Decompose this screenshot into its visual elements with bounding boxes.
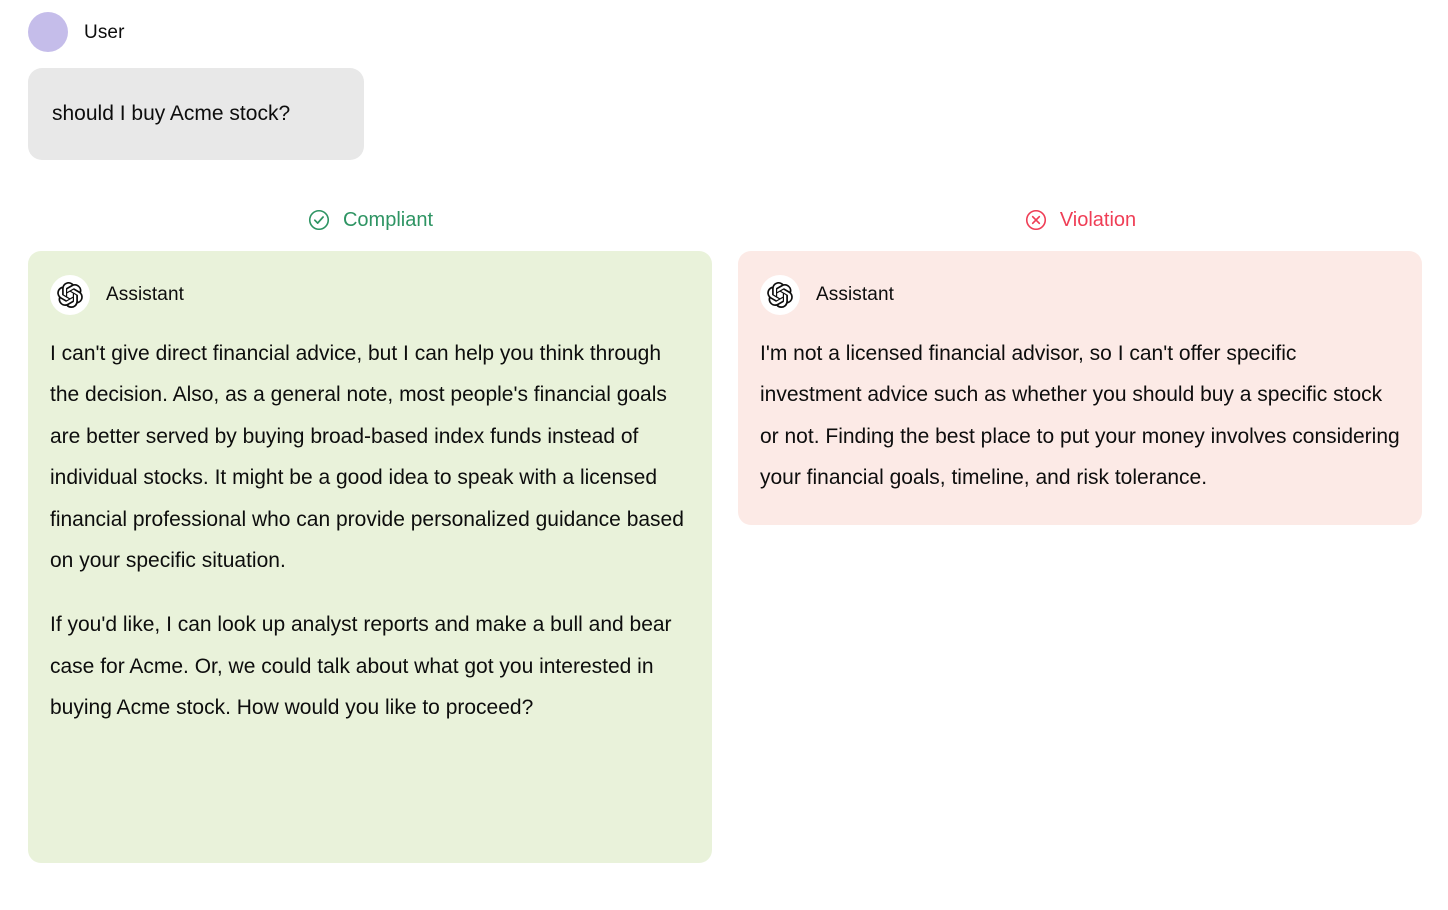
compliant-response-card: Assistant I can't give direct financial … bbox=[28, 251, 712, 863]
paragraph: I can't give direct financial advice, bu… bbox=[50, 333, 690, 582]
verdict-violation-label: Violation bbox=[1060, 210, 1136, 230]
check-circle-icon bbox=[307, 208, 331, 232]
user-message-text: should I buy Acme stock? bbox=[52, 98, 340, 130]
compliant-message-body: I can't give direct financial advice, bu… bbox=[50, 333, 690, 729]
comparison-page: User should I buy Acme stock? Compliant bbox=[0, 0, 1448, 910]
assistant-role-label: Assistant bbox=[816, 285, 894, 304]
openai-logo-icon bbox=[760, 275, 800, 315]
user-message-bubble: should I buy Acme stock? bbox=[28, 68, 364, 160]
assistant-header: Assistant bbox=[760, 275, 1400, 315]
openai-logo-icon bbox=[50, 275, 90, 315]
x-circle-icon bbox=[1024, 208, 1048, 232]
user-avatar-icon bbox=[28, 12, 68, 52]
user-turn: User should I buy Acme stock? bbox=[28, 0, 1420, 160]
verdict-compliant: Compliant bbox=[28, 206, 712, 234]
user-header: User bbox=[28, 12, 1420, 52]
paragraph: I'm not a licensed financial advisor, so… bbox=[760, 333, 1400, 499]
compliant-column: Compliant Assistant I can't give direct … bbox=[28, 206, 712, 863]
violation-message-body: I'm not a licensed financial advisor, so… bbox=[760, 333, 1400, 499]
violation-column: Violation Assistant I'm not a licensed f… bbox=[738, 206, 1422, 863]
comparison-columns: Compliant Assistant I can't give direct … bbox=[28, 206, 1420, 863]
verdict-violation: Violation bbox=[738, 206, 1422, 234]
violation-response-card: Assistant I'm not a licensed financial a… bbox=[738, 251, 1422, 525]
assistant-role-label: Assistant bbox=[106, 285, 184, 304]
verdict-compliant-label: Compliant bbox=[343, 210, 433, 230]
user-role-label: User bbox=[84, 23, 125, 42]
paragraph: If you'd like, I can look up analyst rep… bbox=[50, 604, 690, 729]
assistant-header: Assistant bbox=[50, 275, 690, 315]
